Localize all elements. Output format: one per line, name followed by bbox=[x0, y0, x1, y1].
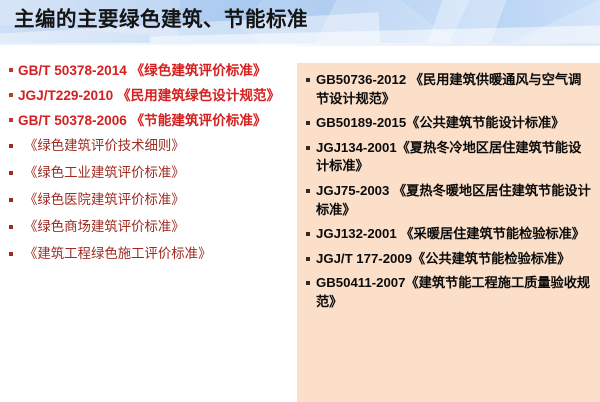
banner-facet-3 bbox=[303, 0, 477, 45]
list-item-label: JGJ/T229-2010 《民用建筑绿色设计规范》 bbox=[18, 86, 290, 105]
square-bullet-icon bbox=[9, 118, 13, 122]
square-bullet-icon bbox=[306, 121, 310, 125]
left-column: GB/T 50378-2014 《绿色建筑评价标准》JGJ/T229-2010 … bbox=[0, 45, 296, 402]
square-bullet-icon bbox=[306, 78, 310, 82]
list-item-label: 《绿色医院建筑评价标准》 bbox=[24, 190, 290, 209]
list-item-label: JGJ/T 177-2009《公共建筑节能检验标准》 bbox=[316, 250, 592, 269]
list-item-label: JGJ75-2003 《夏热冬暖地区居住建筑节能设计标准》 bbox=[316, 182, 592, 219]
square-bullet-icon bbox=[306, 232, 310, 236]
square-bullet-icon bbox=[9, 68, 13, 72]
list-item[interactable]: 《绿色医院建筑评价标准》 bbox=[9, 190, 290, 209]
square-bullet-icon bbox=[9, 144, 13, 148]
list-item-label: JGJ132-2001 《采暖居住建筑节能检验标准》 bbox=[316, 225, 592, 244]
list-item-label: JGJ134-2001《夏热冬冷地区居住建筑节能设计标准》 bbox=[316, 139, 592, 176]
page-title: 主编的主要绿色建筑、节能标准 bbox=[14, 2, 308, 32]
list-item[interactable]: JGJ/T229-2010 《民用建筑绿色设计规范》 bbox=[9, 86, 290, 105]
list-item-label: GB/T 50378-2014 《绿色建筑评价标准》 bbox=[18, 61, 290, 80]
banner-facet-4 bbox=[408, 0, 512, 45]
list-item-label: 《建筑工程绿色施工评价标准》 bbox=[24, 244, 290, 263]
banner-facet-5 bbox=[512, 0, 600, 45]
square-bullet-icon bbox=[9, 225, 13, 229]
list-item[interactable]: JGJ134-2001《夏热冬冷地区居住建筑节能设计标准》 bbox=[306, 139, 592, 176]
square-bullet-icon bbox=[9, 198, 13, 202]
square-bullet-icon bbox=[9, 252, 13, 256]
list-item[interactable]: 《绿色工业建筑评价标准》 bbox=[9, 163, 290, 182]
list-item[interactable]: JGJ132-2001 《采暖居住建筑节能检验标准》 bbox=[306, 225, 592, 244]
square-bullet-icon bbox=[306, 281, 310, 285]
square-bullet-icon bbox=[9, 171, 13, 175]
square-bullet-icon bbox=[9, 93, 13, 97]
right-column-panel: GB50736-2012 《民用建筑供暖通风与空气调节设计规范》GB50189-… bbox=[297, 63, 600, 402]
list-item[interactable]: 《绿色建筑评价技术细则》 bbox=[9, 136, 290, 155]
list-item-label: GB/T 50378-2006 《节能建筑评价标准》 bbox=[18, 111, 290, 130]
list-item-label: 《绿色建筑评价技术细则》 bbox=[24, 136, 290, 155]
list-item[interactable]: JGJ75-2003 《夏热冬暖地区居住建筑节能设计标准》 bbox=[306, 182, 592, 219]
square-bullet-icon bbox=[306, 189, 310, 193]
list-item[interactable]: GB50189-2015《公共建筑节能设计标准》 bbox=[306, 114, 592, 133]
square-bullet-icon bbox=[306, 146, 310, 150]
list-item-label: GB50411-2007《建筑节能工程施工质量验收规范》 bbox=[316, 274, 592, 311]
list-item[interactable]: JGJ/T 177-2009《公共建筑节能检验标准》 bbox=[306, 250, 592, 269]
list-item[interactable]: GB/T 50378-2006 《节能建筑评价标准》 bbox=[9, 111, 290, 130]
list-item-label: 《绿色商场建筑评价标准》 bbox=[24, 217, 290, 236]
list-item-label: GB50189-2015《公共建筑节能设计标准》 bbox=[316, 114, 592, 133]
square-bullet-icon bbox=[306, 257, 310, 261]
list-item-label: 《绿色工业建筑评价标准》 bbox=[24, 163, 290, 182]
list-item[interactable]: GB/T 50378-2014 《绿色建筑评价标准》 bbox=[9, 61, 290, 80]
energy-standards-list: GB50736-2012 《民用建筑供暖通风与空气调节设计规范》GB50189-… bbox=[306, 71, 592, 312]
green-standards-list: GB/T 50378-2014 《绿色建筑评价标准》JGJ/T229-2010 … bbox=[9, 61, 290, 263]
list-item[interactable]: GB50411-2007《建筑节能工程施工质量验收规范》 bbox=[306, 274, 592, 311]
list-item-label: GB50736-2012 《民用建筑供暖通风与空气调节设计规范》 bbox=[316, 71, 592, 108]
list-item[interactable]: 《绿色商场建筑评价标准》 bbox=[9, 217, 290, 236]
list-item[interactable]: 《建筑工程绿色施工评价标准》 bbox=[9, 244, 290, 263]
list-item[interactable]: GB50736-2012 《民用建筑供暖通风与空气调节设计规范》 bbox=[306, 71, 592, 108]
